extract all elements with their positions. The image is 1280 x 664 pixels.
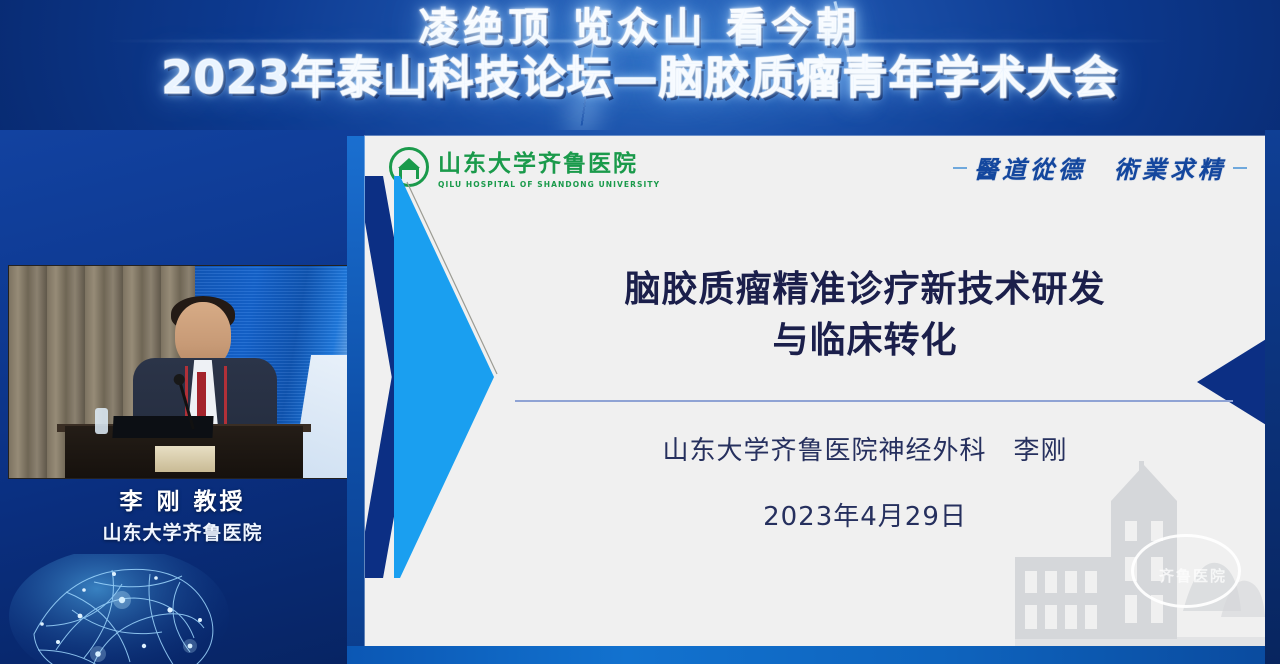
stage-right-edge xyxy=(1265,130,1280,664)
podium-nameplate xyxy=(155,446,215,472)
hospital-watermark-text: 齐鲁医院 xyxy=(1159,565,1227,586)
motto-rule-left xyxy=(953,167,967,169)
speaker-affiliation: 山东大学齐鲁医院 xyxy=(0,518,365,545)
slide-bottom-accent-bar xyxy=(347,646,1280,664)
slide-left-accent-bar xyxy=(347,136,365,664)
slide-divider xyxy=(515,400,1233,402)
slide-title: 脑胶质瘤精准诊疗新技术研发 与临床转化 xyxy=(515,264,1215,366)
motto-text: 醫道從德 術業求精 xyxy=(974,150,1226,185)
event-banner: 凌绝顶 览众山 看今朝 2023年泰山科技论坛—脑胶质瘤青年学术大会 xyxy=(0,0,1280,130)
podium-laptop xyxy=(112,416,213,438)
speaker-sidebar: 李 刚 教授 山东大学齐鲁医院 xyxy=(0,130,365,664)
banner-event-title: 2023年泰山科技论坛—脑胶质瘤青年学术大会 xyxy=(0,53,1280,103)
slide-title-line2: 与临床转化 xyxy=(515,315,1215,366)
banner-slogan: 凌绝顶 览众山 看今朝 xyxy=(0,6,1280,51)
motto-rule-right xyxy=(1233,167,1247,169)
chevron-hairline-decoration xyxy=(405,180,499,376)
speaker-video-feed[interactable] xyxy=(8,265,354,479)
slide-motto: 醫道從德 術業求精 xyxy=(953,150,1247,185)
water-bottle xyxy=(95,408,108,434)
brain-network-svg xyxy=(0,554,365,664)
neural-brain-graphic xyxy=(0,554,365,664)
presentation-slide[interactable]: 山东大学齐鲁医院 QILU HOSPITAL OF SHANDONG UNIVE… xyxy=(365,136,1265,646)
broadcast-stage: 凌绝顶 览众山 看今朝 2023年泰山科技论坛—脑胶质瘤青年学术大会 xyxy=(0,0,1280,664)
hospital-logo-name-cn: 山东大学齐鲁医院 xyxy=(438,144,660,178)
speaker-name: 李 刚 教授 xyxy=(0,482,365,516)
slide-title-line1: 脑胶质瘤精准诊疗新技术研发 xyxy=(515,264,1215,315)
